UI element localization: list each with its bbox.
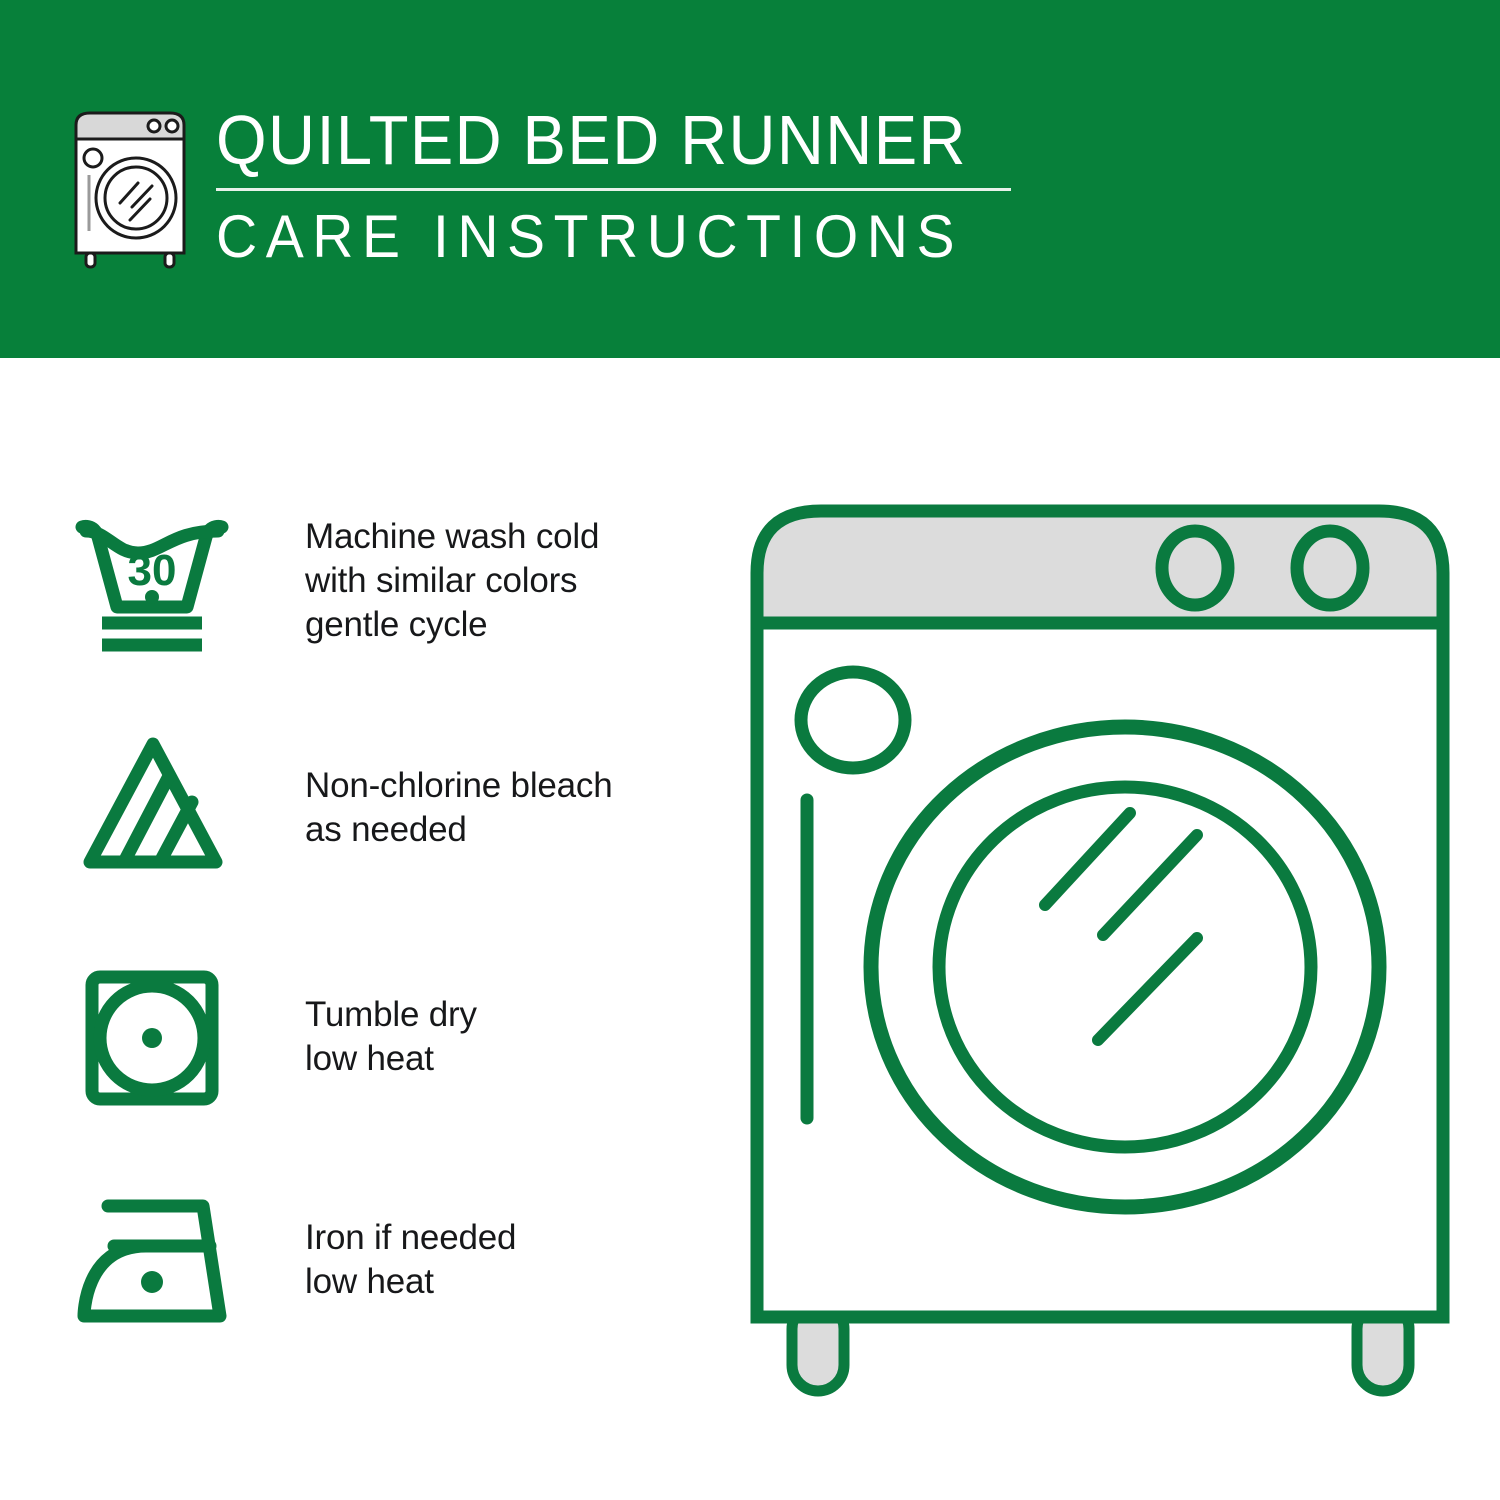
page-title: QUILTED BED RUNNER: [216, 98, 979, 182]
header-divider: [216, 188, 1011, 191]
care-instruction-item: 30 Machine wash cold with similar colors…: [0, 513, 700, 713]
care-instruction-text: Machine wash cold with similar colors ge…: [305, 515, 599, 647]
care-instruction-text: Iron if needed low heat: [305, 1216, 516, 1304]
tumble-dry-low-heat-icon: [72, 963, 232, 1113]
non-chlorine-bleach-triangle-icon: [72, 728, 232, 878]
wash-tub-30-gentle-icon: 30: [72, 513, 232, 663]
wash-temperature-value: 30: [128, 546, 177, 595]
care-instruction-text: Non-chlorine bleach as needed: [305, 764, 613, 852]
header-banner: QUILTED BED RUNNER CARE INSTRUCTIONS: [0, 0, 1500, 358]
header-text-block: QUILTED BED RUNNER CARE INSTRUCTIONS: [216, 98, 1036, 273]
care-instruction-text: Tumble dry low heat: [305, 993, 477, 1081]
washing-machine-icon: [60, 103, 200, 271]
care-instruction-list: 30 Machine wash cold with similar colors…: [0, 358, 700, 1500]
care-instruction-item: Iron if needed low heat: [0, 1188, 700, 1388]
care-instructions-page: QUILTED BED RUNNER CARE INSTRUCTIONS 3: [0, 0, 1500, 1500]
care-instruction-item: Tumble dry low heat: [0, 963, 700, 1163]
iron-low-heat-icon: [72, 1188, 232, 1338]
page-subtitle: CARE INSTRUCTIONS: [216, 201, 995, 273]
front-load-washing-machine-illustration: [735, 495, 1465, 1415]
care-instruction-item: Non-chlorine bleach as needed: [0, 728, 700, 928]
